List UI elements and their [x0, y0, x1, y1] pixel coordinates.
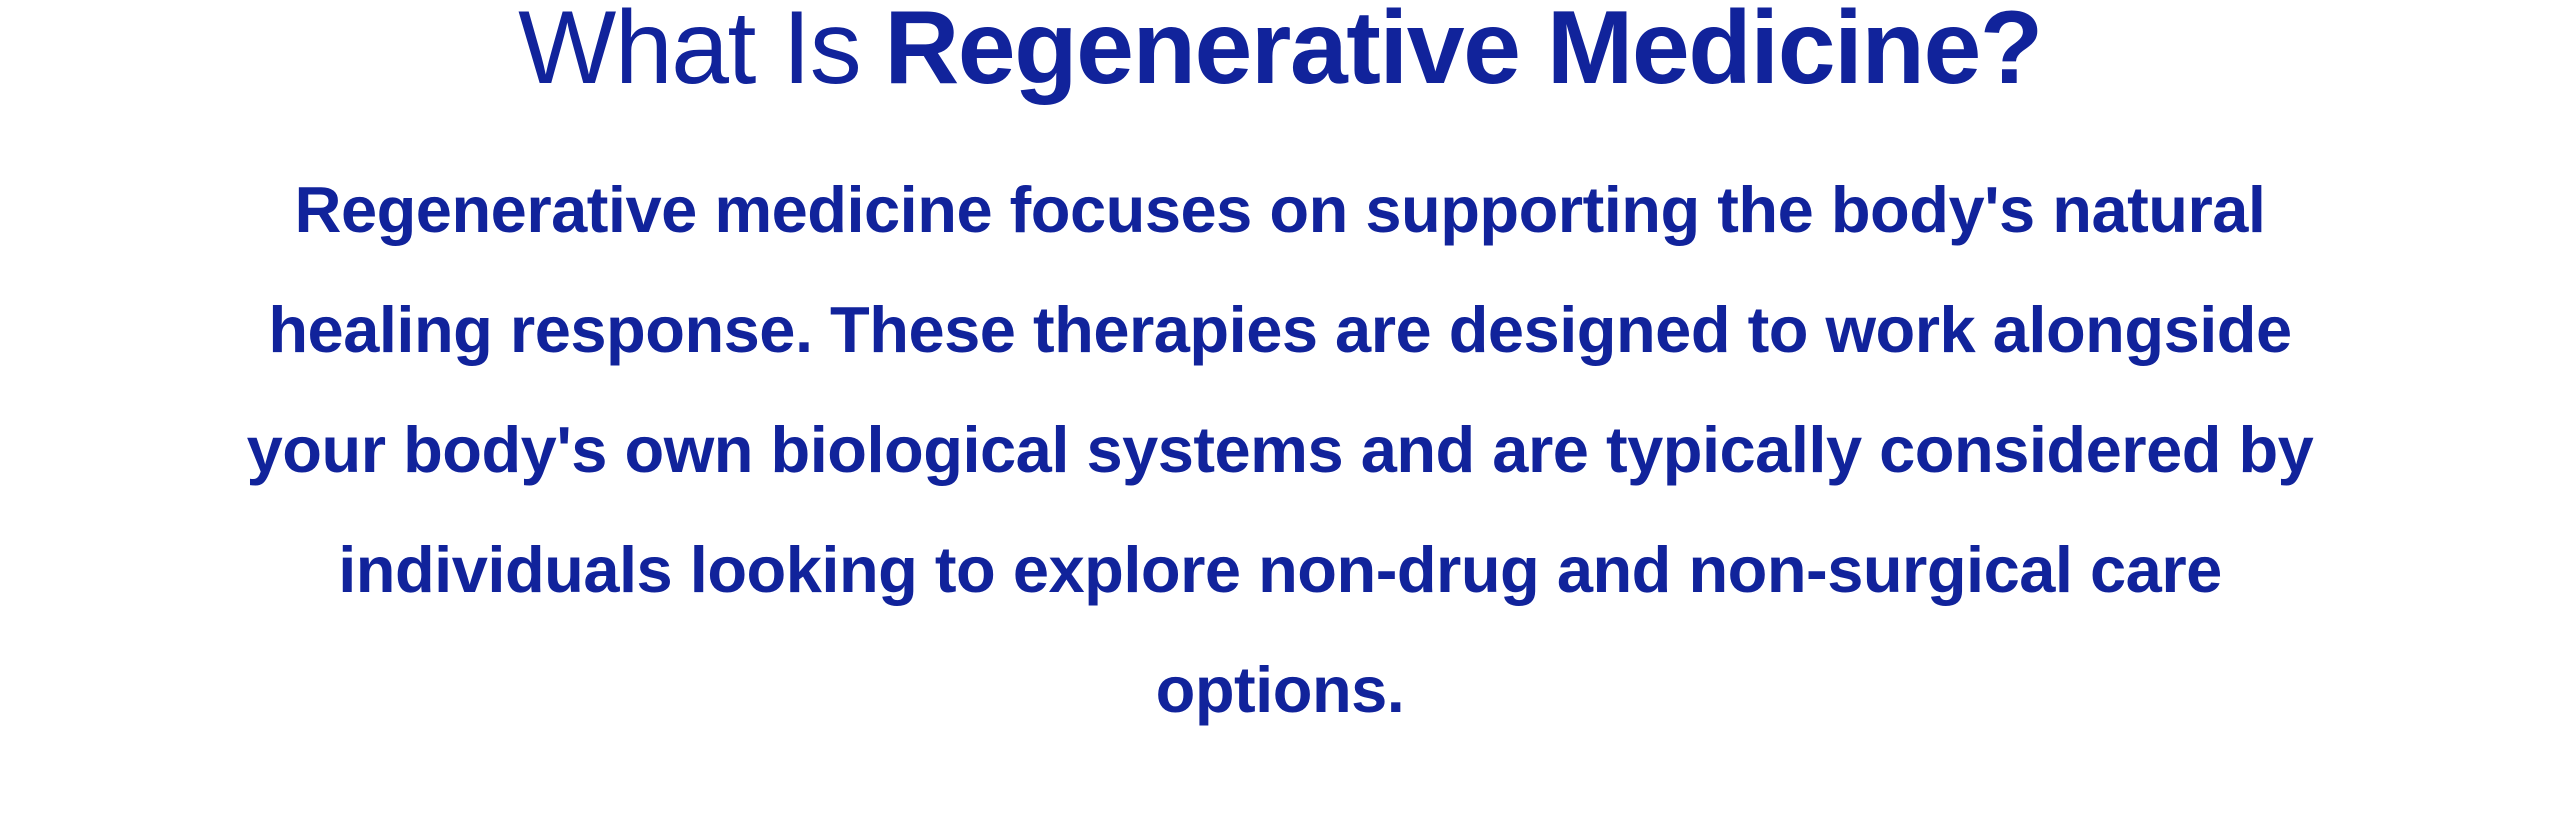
regenerative-medicine-section: What IsRegenerative Medicine? Regenerati…	[0, 0, 2560, 819]
body-paragraph-line: healing response. These therapies are de…	[30, 270, 2530, 390]
page-title-bold-part: Regenerative Medicine?	[884, 0, 2042, 106]
page-title: What IsRegenerative Medicine?	[0, 0, 2560, 102]
body-paragraph-line: options.	[30, 630, 2530, 750]
body-paragraph-line: Regenerative medicine focuses on support…	[30, 150, 2530, 270]
body-paragraph-line: individuals looking to explore non-drug …	[30, 510, 2530, 630]
body-paragraph: Regenerative medicine focuses on support…	[0, 150, 2560, 750]
body-paragraph-line: your body's own biological systems and a…	[30, 390, 2530, 510]
page-title-light-part: What Is	[518, 0, 860, 106]
